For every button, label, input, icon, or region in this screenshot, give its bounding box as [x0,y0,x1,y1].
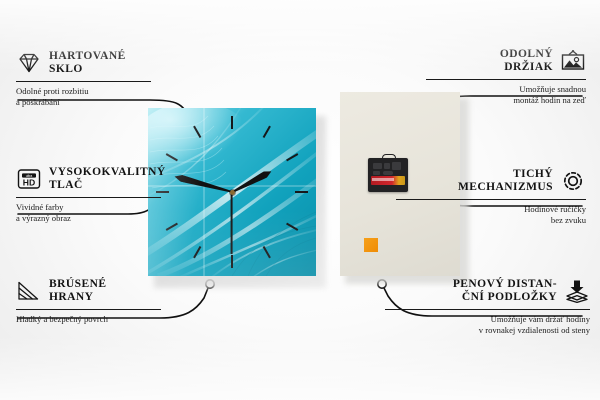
mechanism-detail [383,171,393,175]
feature-high-quality-print: ultra HD VYSOKOKVALITNÝ TLAČ Vividné far… [16,166,196,225]
feature-title: TICHÝ MECHANIZMUS [458,168,553,194]
feature-divider [16,309,161,310]
feature-foam-spacers: PENOVÝ DISTAN- ČNÍ PODLOŽKY Umožňuje vám… [385,278,590,337]
foam-pad-arrow-icon [564,279,590,303]
clock-second-hand [231,192,233,254]
feature-title-line: VYSOKOKVALITNÝ [49,166,166,179]
mechanism-detail [373,163,382,169]
feature-divider [385,309,590,310]
mechanism-detail [373,171,380,175]
svg-text:HD: HD [23,177,35,187]
feature-title: HARTOVANÉ SKLO [49,50,126,76]
feature-desc-line: Umožňuje snadnou [406,84,586,95]
feature-divider [426,79,586,80]
foam-pad-square [364,238,378,252]
feature-title-line: TLAČ [49,179,166,192]
feature-desc-line: Hladký a bezpečný povrch [16,314,201,325]
feature-title-line: TICHÝ [458,168,553,181]
feature-header: TICHÝ MECHANIZMUS [396,168,586,194]
feature-desc-line: v rovnakej vzdialenosti od steny [385,325,590,336]
feature-durable-hanger: ODOLNÝ DRŽIAK Umožňuje snadnou montáž ho… [406,48,586,107]
battery-label [372,178,394,181]
feature-header: ultra HD VYSOKOKVALITNÝ TLAČ [16,166,196,192]
feature-header: PENOVÝ DISTAN- ČNÍ PODLOŽKY [385,278,590,304]
feature-desc-line: a poškrábání [16,97,186,108]
clock-center-cap [230,190,235,195]
diamond-icon [16,51,42,75]
brushed-edge-icon [16,279,42,303]
feature-title-line: HARTOVANÉ [49,50,126,63]
feature-title: PENOVÝ DISTAN- ČNÍ PODLOŽKY [453,278,557,304]
picture-frame-hanger-icon [560,49,586,73]
gear-icon [560,169,586,193]
foam-spacer-pad [364,238,380,254]
feature-title-line: SKLO [49,63,126,76]
feature-desc-line: Umožňuje vám držať hodiny [385,314,590,325]
mechanism-detail [384,163,390,169]
clock-tick [232,191,308,193]
ultra-hd-icon: ultra HD [16,167,42,191]
infographic-canvas: Square glass clock with turquoise feathe… [0,0,600,400]
feature-title-line: ODOLNÝ [500,48,553,61]
feature-title: VYSOKOKVALITNÝ TLAČ [49,166,166,192]
feature-title-line: MECHANIZMUS [458,181,553,194]
clock-tick [231,116,233,192]
feature-header: ODOLNÝ DRŽIAK [406,48,586,74]
feature-title-line: PENOVÝ DISTAN- [453,278,557,291]
feature-divider [16,81,151,82]
feature-divider [16,197,161,198]
feature-title: ODOLNÝ DRŽIAK [500,48,553,74]
feature-title-line: HRANY [49,291,106,304]
feature-title-line: ČNÍ PODLOŽKY [453,291,557,304]
feature-header: HARTOVANÉ SKLO [16,50,186,76]
feature-desc-line: Odolné proti rozbitiu [16,86,186,97]
feature-desc-line: a výrazný obraz [16,213,196,224]
feature-hardened-glass: HARTOVANÉ SKLO Odolné proti rozbitiu a p… [16,50,186,109]
feature-title: BRÚSENÉ HRANY [49,278,106,304]
feature-title-line: DRŽIAK [500,61,553,74]
feature-divider [396,199,586,200]
feature-silent-mechanism: TICHÝ MECHANIZMUS Hodinové ručičky bez z… [396,168,586,227]
feature-desc-line: bez zvuku [396,215,586,226]
feature-title-line: BRÚSENÉ [49,278,106,291]
feature-desc-line: Vividné farby [16,202,196,213]
feature-header: BRÚSENÉ HRANY [16,278,201,304]
feature-desc-line: montáž hodin na zeď [406,95,586,106]
feature-desc-line: Hodinové ručičky [396,204,586,215]
feature-polished-edges: BRÚSENÉ HRANY Hladký a bezpečný povrch [16,278,201,325]
